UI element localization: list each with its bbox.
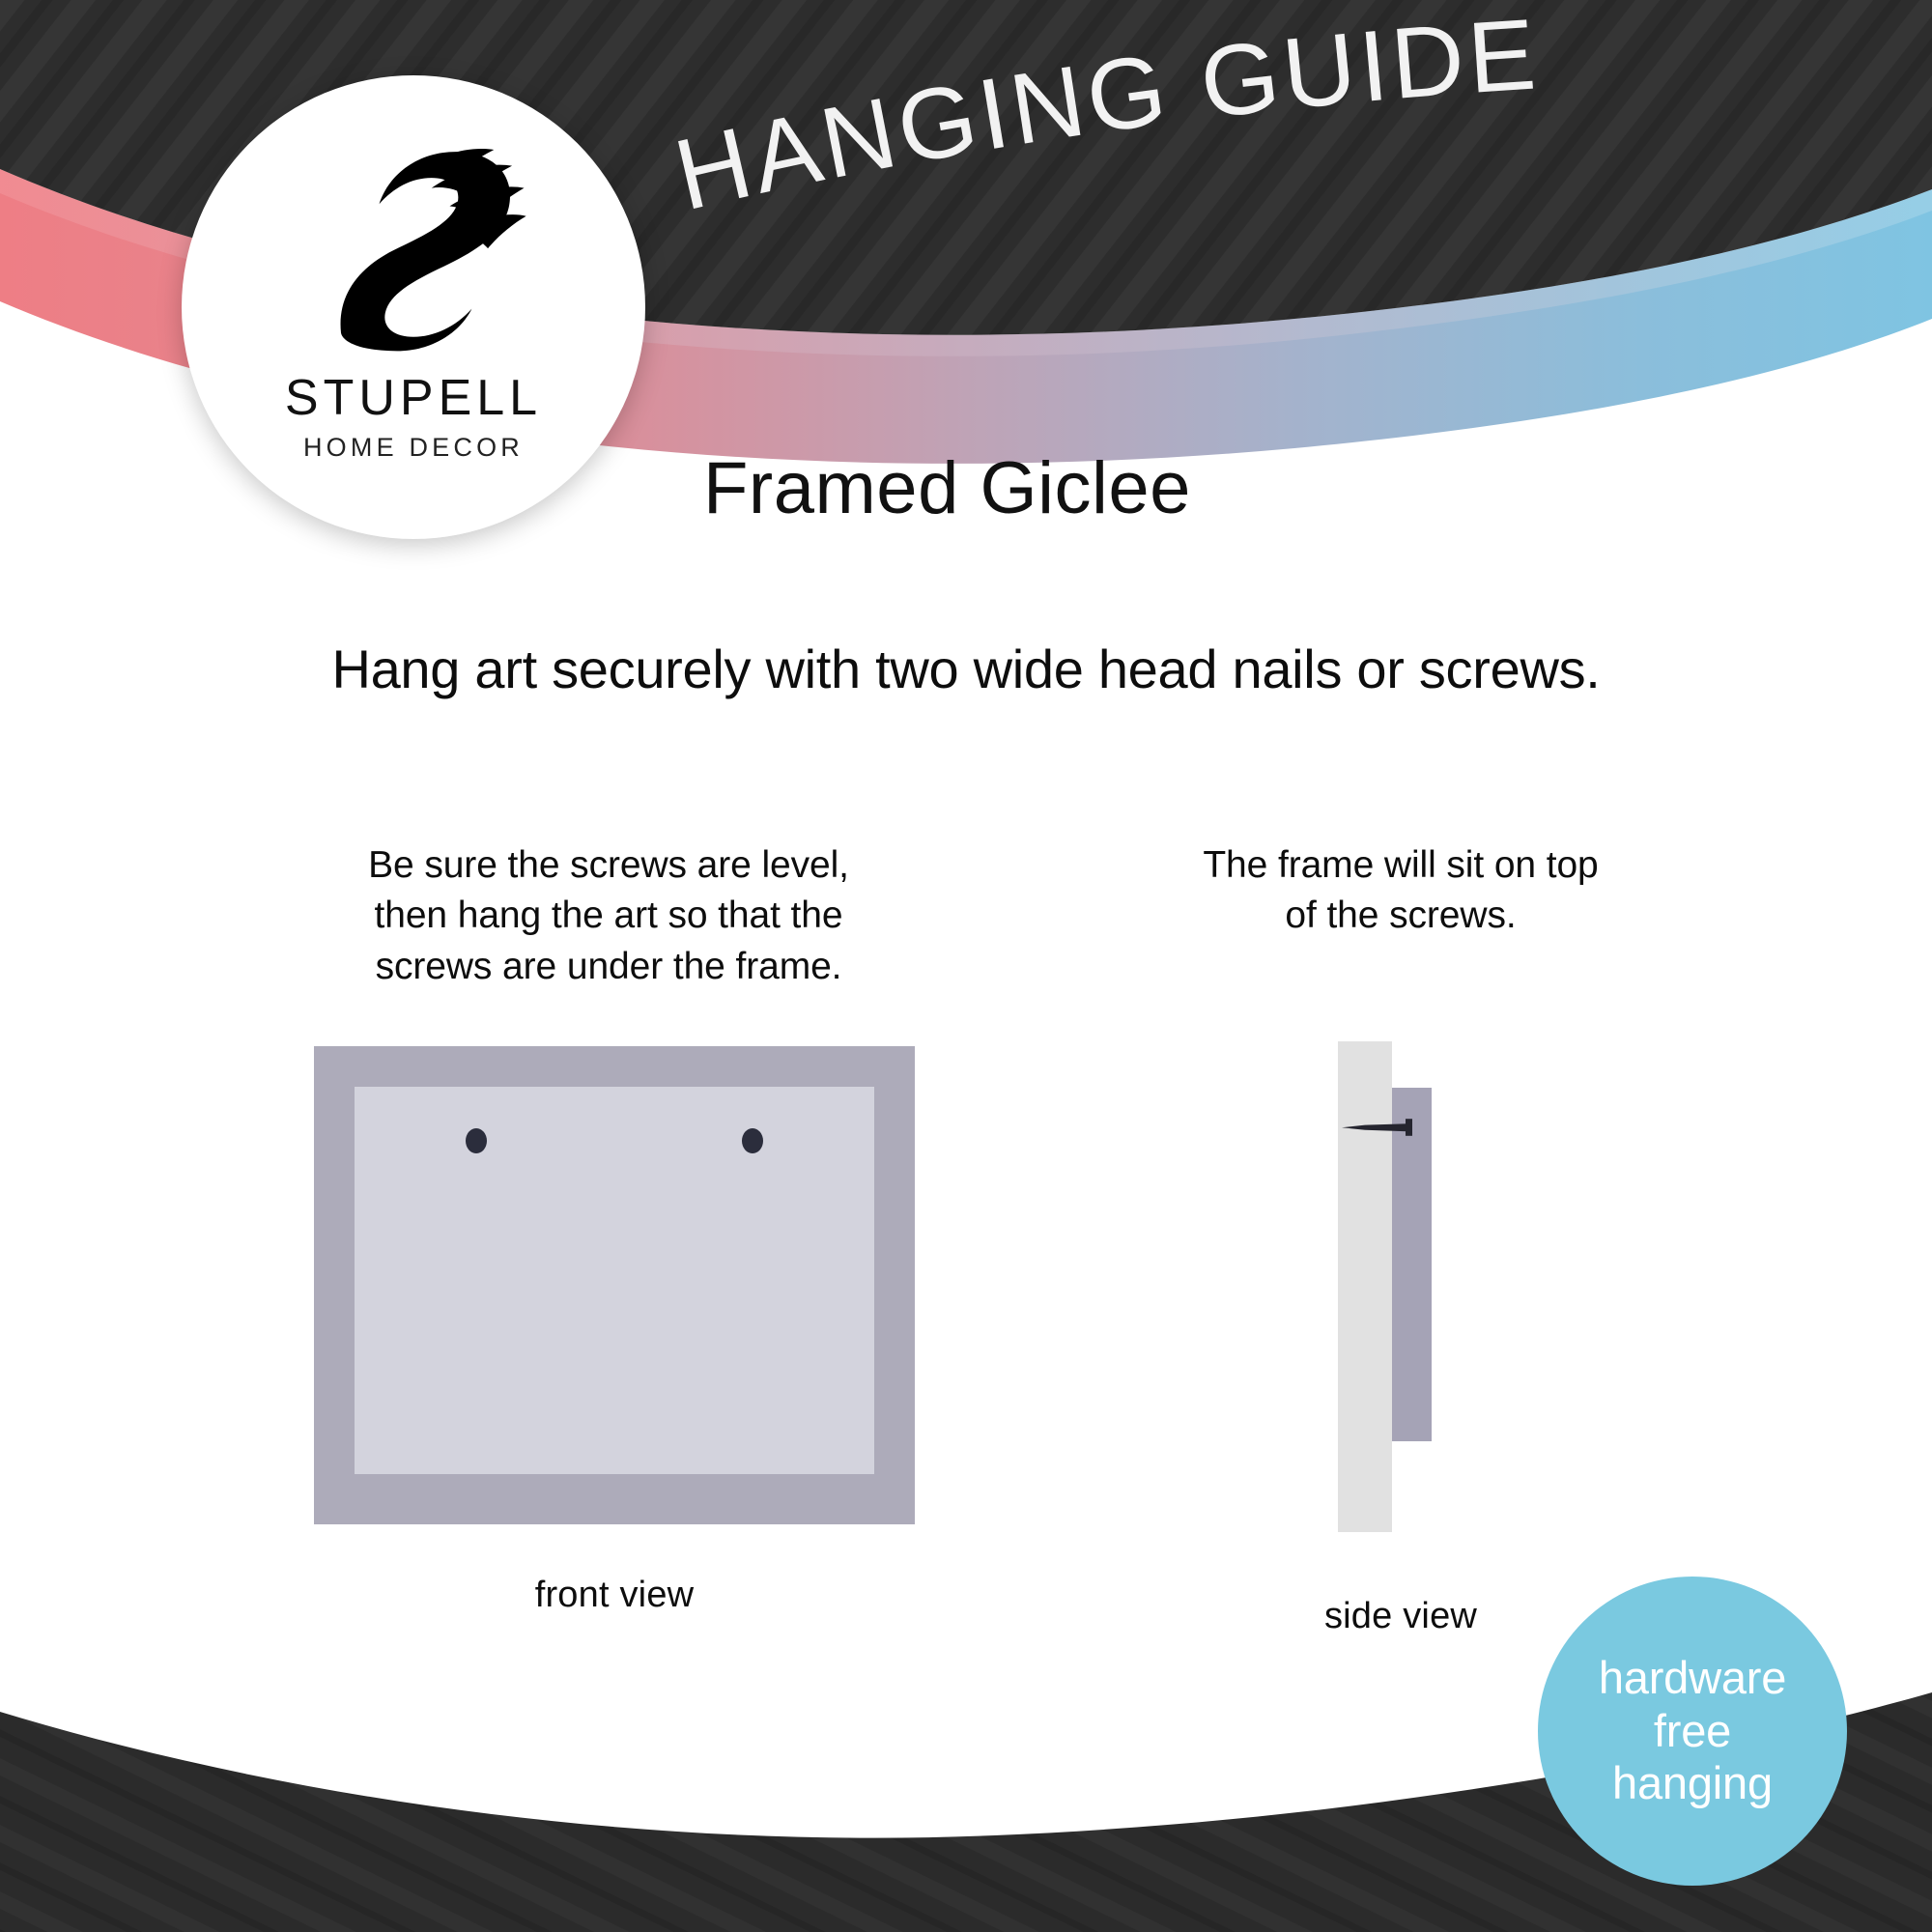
header-title-container: HANGING GUIDE <box>676 56 1893 211</box>
hanging-guide-page: HANGING GUIDE STUPELL HOME DECOR Framed … <box>0 0 1932 1932</box>
side-caption-line-2: of the screws. <box>1101 891 1700 941</box>
screw-dot-left <box>466 1128 487 1153</box>
badge-line-2: free <box>1654 1705 1731 1758</box>
nail-icon <box>1340 1116 1419 1139</box>
front-view-column: Be sure the screws are level, then hang … <box>280 840 937 992</box>
main-instruction-text: Hang art securely with two wide head nai… <box>0 639 1932 699</box>
side-view-label: side view <box>1183 1596 1618 1637</box>
stupell-swoosh-icon <box>293 126 534 367</box>
front-caption-line-3: screws are under the frame. <box>280 942 937 992</box>
front-view-label: front view <box>314 1575 915 1616</box>
side-caption-line-1: The frame will sit on top <box>1101 840 1700 891</box>
hardware-free-hanging-badge: hardware free hanging <box>1538 1577 1847 1886</box>
brand-wordmark: STUPELL <box>285 373 542 423</box>
side-view-column: The frame will sit on top of the screws. <box>1101 840 1700 942</box>
front-view-caption: Be sure the screws are level, then hang … <box>280 840 937 992</box>
front-caption-line-2: then hang the art so that the <box>280 891 937 941</box>
front-view-frame-diagram <box>314 1046 915 1524</box>
brand-subwordmark: HOME DECOR <box>303 435 524 461</box>
side-view-caption: The frame will sit on top of the screws. <box>1101 840 1700 942</box>
page-title: HANGING GUIDE <box>666 0 1543 232</box>
front-view-mat <box>355 1087 874 1474</box>
side-view-frame-diagram <box>1338 1041 1463 1532</box>
brand-logo-badge: STUPELL HOME DECOR <box>182 75 645 539</box>
badge-line-3: hanging <box>1612 1757 1773 1810</box>
product-type-label: Framed Giclee <box>703 452 1191 526</box>
badge-line-1: hardware <box>1599 1652 1786 1705</box>
front-caption-line-1: Be sure the screws are level, <box>280 840 937 891</box>
screw-dot-right <box>742 1128 763 1153</box>
side-view-frame <box>1392 1088 1432 1441</box>
